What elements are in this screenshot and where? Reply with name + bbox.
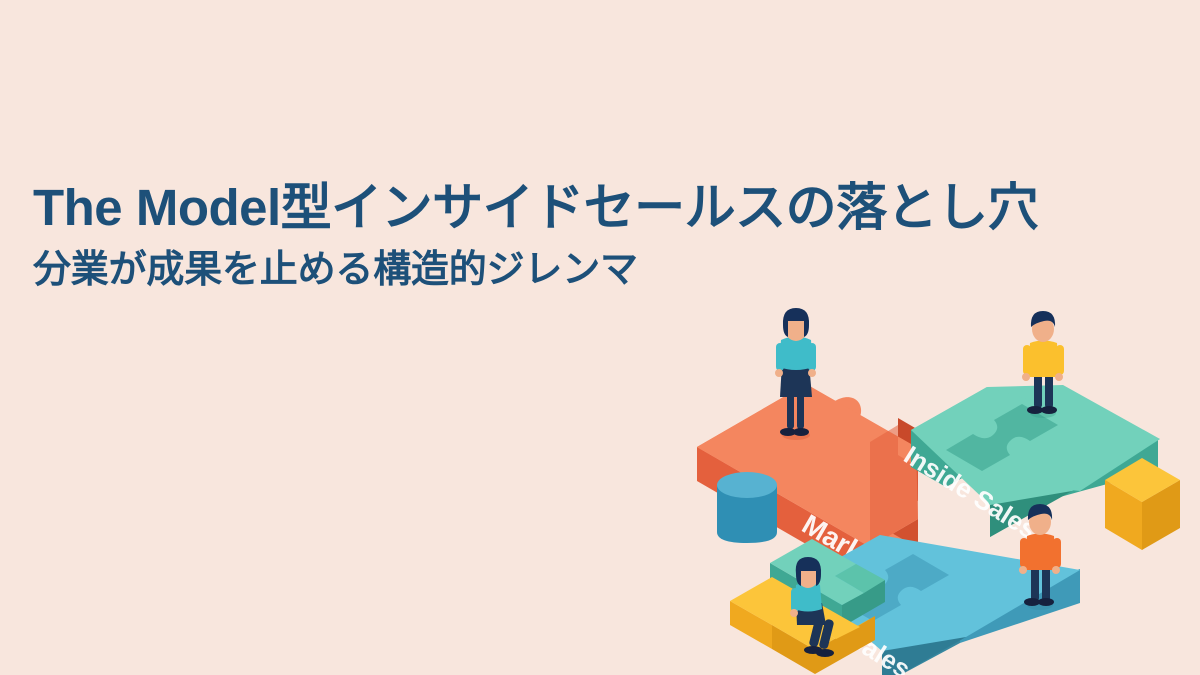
page-subtitle: 分業が成果を止める構造的ジレンマ: [33, 247, 1173, 293]
isometric-puzzle-illustration: Marketing: [660, 285, 1200, 675]
page-title: The Model型インサイドセールスの落とし穴: [33, 178, 1173, 237]
title-block: The Model型インサイドセールスの落とし穴 分業が成果を止める構造的ジレン…: [33, 178, 1173, 294]
prop-blue-cylinder: [717, 472, 777, 543]
hero-banner: The Model型インサイドセールスの落とし穴 分業が成果を止める構造的ジレン…: [0, 0, 1200, 675]
